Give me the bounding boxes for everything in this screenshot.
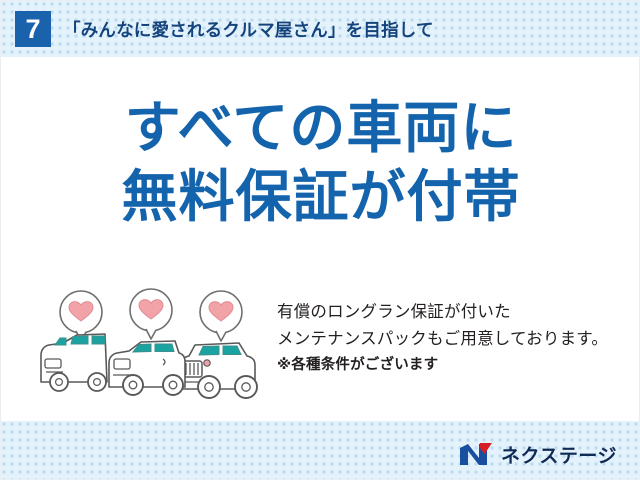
heart-bubble-2-group [130,289,172,339]
three-cars-illustration [33,287,271,405]
note-disclaimer: ※各種条件がございます [277,354,640,377]
heart-bubble-3-group [200,291,242,341]
step-number-badge: 7 [15,11,51,47]
car-minivan [41,334,107,391]
promotional-banner: 7 「みんなに愛されるクルマ屋さん」を目指して すべての車両に 無料保証が付帯 [0,0,640,480]
car-wagon [109,341,185,395]
note-line-1: 有償のロングラン保証が付いた [277,299,640,326]
header: 7 「みんなに愛されるクルマ屋さん」を目指して [1,1,640,57]
brand-logo: ネクステージ [459,439,617,469]
car-suv [181,343,257,398]
headline: すべての車両に 無料保証が付帯 [1,97,640,228]
nexstage-n-logo-icon [459,442,493,467]
brand-name: ネクステージ [501,441,617,468]
lower-content-row: 有償のロングラン保証が付いた メンテナンスパックもご用意しております。 ※各種条… [1,287,640,407]
heart-bubble-1-group [60,291,102,341]
headline-line-1: すべての車両に [1,97,640,160]
note-block: 有償のロングラン保証が付いた メンテナンスパックもご用意しております。 ※各種条… [277,299,640,378]
headline-line-2: 無料保証が付帯 [1,166,640,229]
note-line-2: メンテナンスパックもご用意しております。 [277,326,640,353]
header-title: 「みんなに愛されるクルマ屋さん」を目指して [63,17,434,42]
